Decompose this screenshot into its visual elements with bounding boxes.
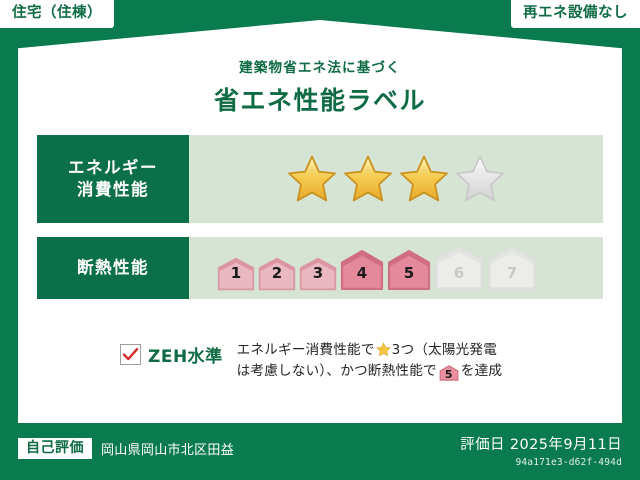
zeh-label: ZEH水準: [148, 342, 223, 367]
title-subtitle: 建築物省エネ法に基づく: [0, 56, 640, 76]
star-icon: [342, 153, 394, 205]
zeh-desc-badge-level: 5: [445, 368, 453, 381]
zeh-description-line1: エネルギー消費性能で3つ（太陽光発電: [237, 340, 503, 361]
renewable-equipment-badge: 再エネ設備なし: [511, 0, 640, 28]
title-main: 省エネ性能ラベル: [0, 81, 640, 117]
house-icon: 5: [439, 365, 459, 381]
energy-rating-value: [189, 135, 603, 223]
insulation-level-number: 3: [313, 266, 323, 287]
building-type-badge: 住宅（住棟）: [0, 0, 114, 28]
insulation-performance-label-box: 断熱性能: [37, 237, 189, 299]
footer-right: 評価日 2025年9月11日 94a171e3-d62f-494d: [460, 433, 622, 468]
insulation-level-badge: 5: [387, 249, 431, 291]
insulation-level-number: 1: [231, 266, 241, 287]
star-rating: [286, 153, 506, 205]
insulation-level-number: 5: [404, 266, 414, 287]
evaluation-date: 評価日 2025年9月11日: [460, 433, 622, 454]
energy-performance-label: 住宅（住棟） 再エネ設備なし 建築物省エネ法に基づく 省エネ性能ラベル エネルギ…: [0, 0, 640, 480]
evaluation-id: 94a171e3-d62f-494d: [460, 457, 622, 468]
insulation-level-badge: 3: [299, 257, 337, 291]
label-title: 建築物省エネ法に基づく 省エネ性能ラベル: [0, 56, 640, 117]
insulation-level-number: 6: [454, 266, 464, 287]
zeh-desc-line2-post: を達成: [461, 363, 502, 379]
zeh-mark: ZEH水準: [120, 336, 223, 367]
insulation-level-badge: 6: [434, 245, 484, 291]
footer-left: 自己評価 岡山県岡山市北区田益: [18, 438, 234, 459]
star-icon: [376, 342, 391, 357]
zeh-description: エネルギー消費性能で3つ（太陽光発電 は考慮しない）、かつ断熱性能で5を達成: [237, 336, 503, 383]
check-icon: [120, 344, 141, 365]
insulation-level-badge: 4: [340, 249, 384, 291]
zeh-desc-line1-post: 3つ（太陽光発電: [392, 342, 497, 358]
insulation-level-badge: 2: [258, 257, 296, 291]
insulation-level-number: 2: [272, 266, 282, 287]
insulation-level-number: 4: [357, 266, 367, 287]
energy-performance-label-box: エネルギー 消費性能: [37, 135, 189, 223]
insulation-level-scale: 1234567: [217, 245, 537, 291]
zeh-desc-line1-pre: エネルギー消費性能で: [237, 342, 375, 358]
star-icon: [398, 153, 450, 205]
evaluation-type-badge: 自己評価: [18, 438, 92, 459]
insulation-level-number: 7: [507, 266, 517, 287]
energy-label-line1: エネルギー: [68, 157, 158, 179]
star-icon: [286, 153, 338, 205]
insulation-level-value: 1234567: [189, 237, 603, 299]
zeh-standard-section: ZEH水準 エネルギー消費性能で3つ（太陽光発電 は考慮しない）、かつ断熱性能で…: [120, 336, 502, 383]
insulation-level-badge: 7: [487, 245, 537, 291]
zeh-desc-line2-pre: は考慮しない）、かつ断熱性能で: [237, 363, 437, 379]
insulation-level-badge: 1: [217, 257, 255, 291]
energy-label-line2: 消費性能: [77, 179, 149, 201]
energy-performance-row: エネルギー 消費性能: [37, 135, 603, 223]
insulation-performance-row: 断熱性能 1234567: [37, 237, 603, 299]
label-footer: 自己評価 岡山県岡山市北区田益 評価日 2025年9月11日 94a171e3-…: [0, 423, 640, 480]
star-icon: [454, 153, 506, 205]
zeh-description-line2: は考慮しない）、かつ断熱性能で5を達成: [237, 361, 503, 382]
property-address: 岡山県岡山市北区田益: [101, 439, 234, 458]
insulation-label-line1: 断熱性能: [77, 257, 149, 279]
